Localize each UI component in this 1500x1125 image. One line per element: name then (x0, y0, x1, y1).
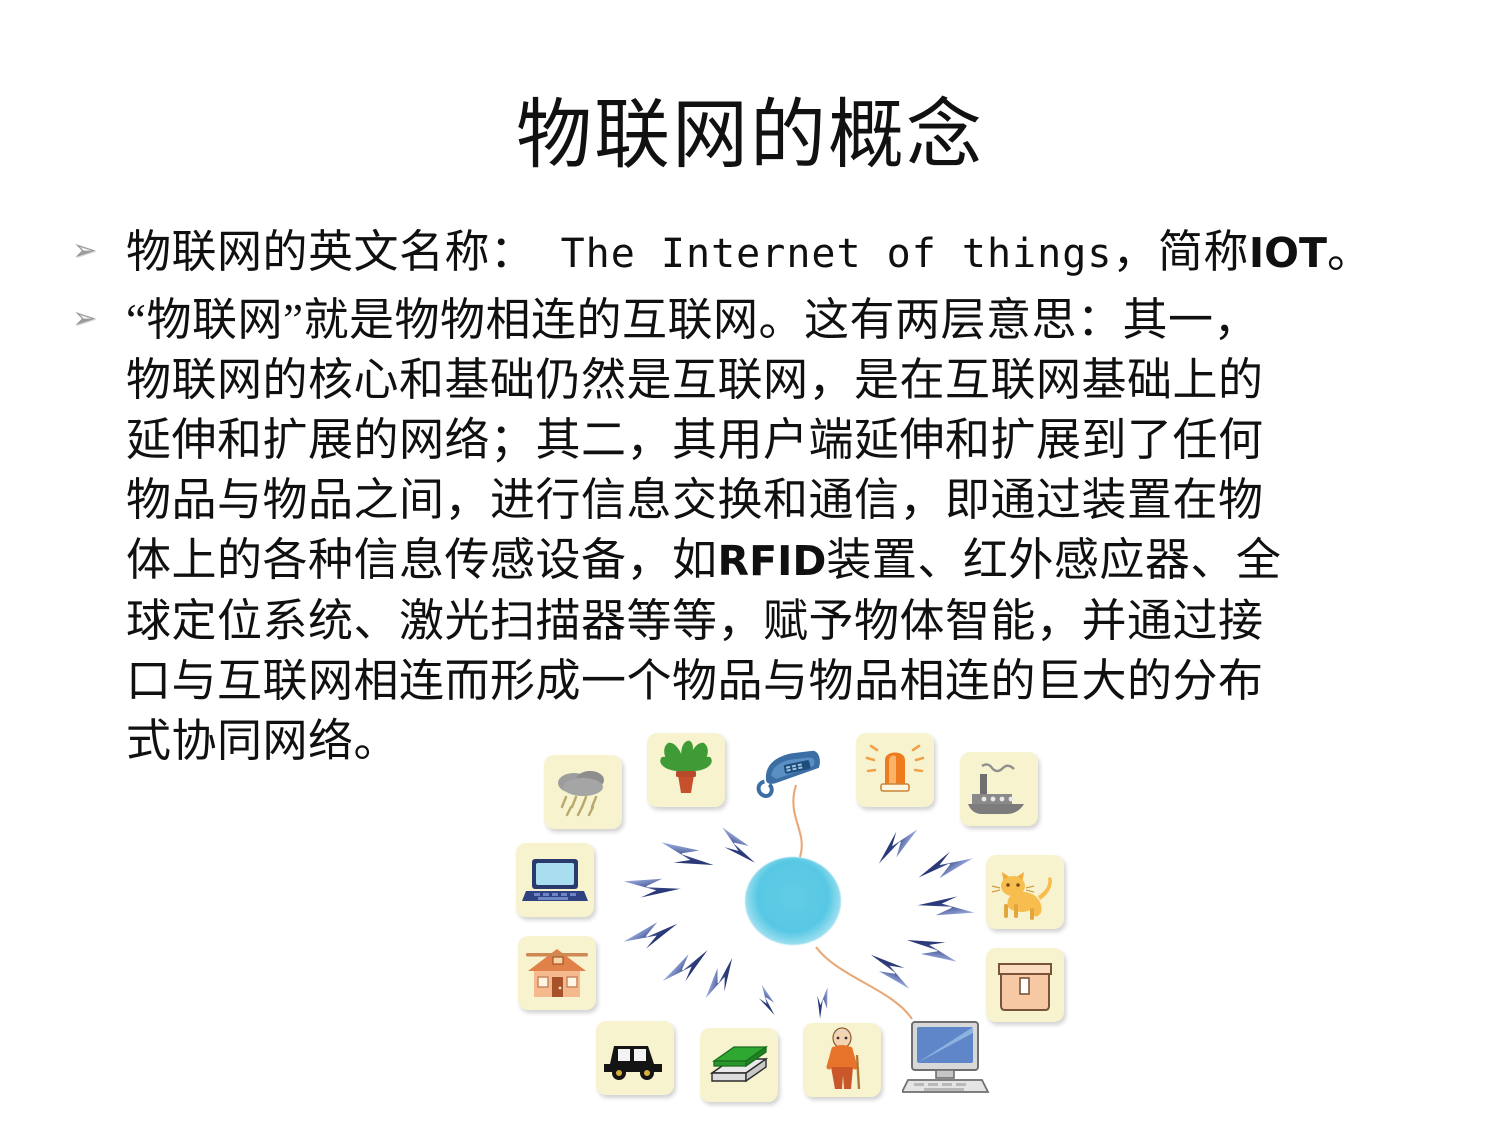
bullet-item-1: ➢ 物联网的英文名称： The Internet of things，简称IOT… (72, 222, 1462, 284)
bullet-text-1: 物联网的英文名称： The Internet of things，简称IOT。 (126, 222, 1462, 284)
package-box-icon (986, 948, 1064, 1022)
text-latin-internet-of-things: The Internet of things (536, 231, 1113, 277)
bullet-arrow-icon: ➢ (72, 222, 126, 266)
internet-of-things-diagram (508, 733, 1073, 1115)
elderly-person-icon (803, 1023, 881, 1097)
laptop-icon (516, 843, 594, 917)
text-cjk: 。 (1327, 227, 1373, 277)
telephone-icon (751, 735, 829, 809)
bullet-2-line-5: 体上的各种信息传感设备，如RFID装置、红外感应器、全 (126, 530, 1462, 591)
house-icon (518, 936, 596, 1010)
text-cjk: 物联网的英文名称： (126, 227, 536, 277)
bullet-2-line-2: 物联网的核心和基础仍然是互联网，是在互联网基础上的 (126, 350, 1462, 410)
car-icon (596, 1021, 674, 1095)
network-hub (745, 857, 841, 945)
bullet-2-line-4: 物品与物品之间，进行信息交换和通信，即通过装置在物 (126, 470, 1462, 530)
potted-plant-icon (647, 733, 725, 807)
text-cjk: 体上的各种信息传感设备，如 (126, 535, 718, 585)
bullet-2-line-7: 口与互联网相连而形成一个物品与物品相连的巨大的分布 (126, 651, 1462, 711)
presentation-slide: 物联网的概念 ➢ 物联网的英文名称： The Internet of thing… (0, 0, 1500, 1125)
rain-cloud-icon (544, 755, 622, 829)
desktop-computer-icon (900, 1016, 992, 1104)
slide-body: ➢ 物联网的英文名称： The Internet of things，简称IOT… (72, 222, 1462, 771)
bullet-arrow-icon: ➢ (72, 290, 126, 334)
books-icon (700, 1028, 778, 1102)
cat-icon (986, 855, 1064, 929)
text-cjk: ，简称 (1112, 227, 1249, 277)
alarm-light-icon (856, 733, 934, 807)
bullet-1-line-1: 物联网的英文名称： The Internet of things，简称IOT。 (126, 222, 1462, 284)
bullet-2-line-3: 延伸和扩展的网络；其二，其用户端延伸和扩展到了任何 (126, 410, 1462, 470)
bullet-item-2: ➢ “物联网”就是物物相连的互联网。这有两层意思：其一， 物联网的核心和基础仍然… (72, 290, 1462, 771)
factory-ship-icon (960, 752, 1038, 826)
text-latin-iot: IOT (1249, 229, 1327, 277)
text-latin-rfid: RFID (718, 537, 827, 585)
bullet-2-line-6: 球定位系统、激光扫描器等等，赋予物体智能，并通过接 (126, 591, 1462, 651)
text-cjk: 装置、红外感应器、全 (826, 535, 1281, 585)
bullet-2-line-1: “物联网”就是物物相连的互联网。这有两层意思：其一， (126, 290, 1462, 350)
bullet-text-2: “物联网”就是物物相连的互联网。这有两层意思：其一， 物联网的核心和基础仍然是互… (126, 290, 1462, 771)
page-title: 物联网的概念 (0, 88, 1500, 184)
